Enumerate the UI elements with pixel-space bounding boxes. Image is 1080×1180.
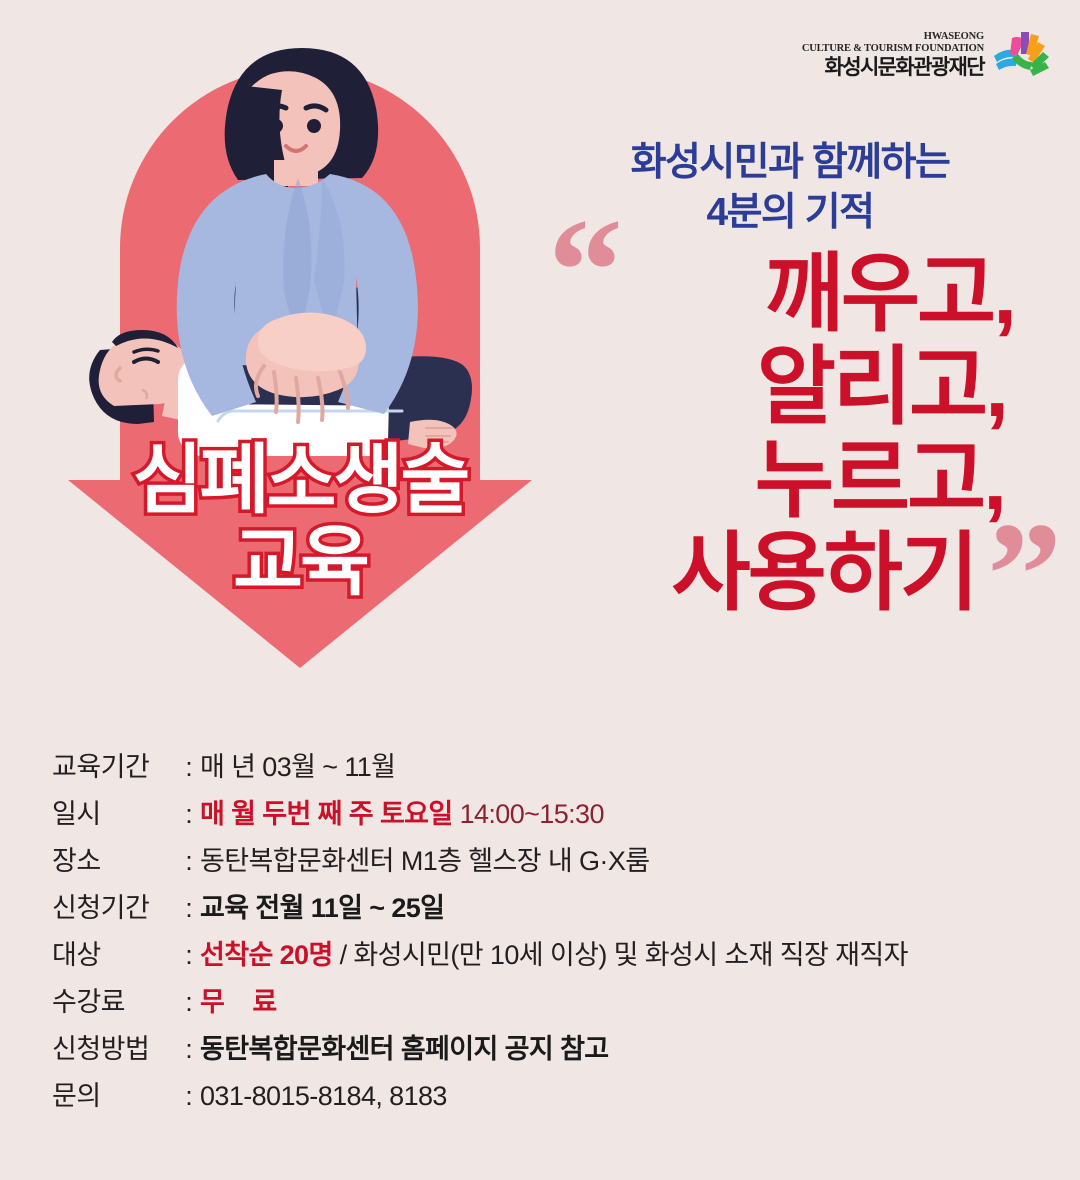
slogan-line2: 알리고, <box>540 341 1028 434</box>
slogan-line3: 누르고, <box>540 434 1028 527</box>
info-value-part: 매 년 03월 ~ 11월 <box>200 752 395 782</box>
info-row: 일시:매 월 두번 째 주 토요일 14:00~15:30 <box>52 799 1062 846</box>
info-row-label: 장소 <box>52 848 178 875</box>
info-row-value: 무 료 <box>200 989 287 1016</box>
info-value-part: / 화성시민(만 10세 이상) 및 화성시 소재 직장 재직자 <box>333 940 908 970</box>
info-row-value: 031-8015-8184, 8183 <box>200 1083 447 1110</box>
info-row-label: 대상 <box>52 942 178 969</box>
slogan-block: “ 깨우고, 알리고, 누르고, 사용하기 ” <box>540 248 1050 678</box>
info-row-label: 신청기간 <box>52 895 178 922</box>
info-value-part: 031-8015-8184, 8183 <box>200 1081 447 1111</box>
info-row-label: 신청방법 <box>52 1036 178 1063</box>
info-row-value: 매 월 두번 째 주 토요일 14:00~15:30 <box>200 801 604 828</box>
info-row-value: 동탄복합문화센터 M1층 헬스장 내 G·X룸 <box>200 848 649 875</box>
info-row-colon: : <box>178 1034 200 1065</box>
info-value-part: 매 월 두번 째 주 토요일 <box>200 799 453 829</box>
info-row-colon: : <box>178 1081 200 1112</box>
cpr-illustration <box>60 28 540 718</box>
info-row-label: 교육기간 <box>52 754 178 781</box>
info-row-label: 수강료 <box>52 989 178 1016</box>
info-list: 교육기간:매 년 03월 ~ 11월일시:매 월 두번 째 주 토요일 14:0… <box>52 752 1062 1128</box>
headline-line1: 화성시민과 함께하는 <box>540 138 1040 188</box>
info-value-part: 동탄복합문화센터 M1층 헬스장 내 G·X룸 <box>200 846 649 876</box>
logo-text: HWASEONG CULTURE & TOURISM FOUNDATION 화성… <box>802 32 984 78</box>
info-value-part: 선착순 20명 <box>200 940 333 970</box>
foundation-logo: HWASEONG CULTURE & TOURISM FOUNDATION 화성… <box>802 22 1052 78</box>
info-row: 교육기간:매 년 03월 ~ 11월 <box>52 752 1062 799</box>
slogan-lines: 깨우고, 알리고, 누르고, 사용하기 <box>540 248 1050 620</box>
info-row-value: 동탄복합문화센터 홈페이지 공지 참고 <box>200 1036 609 1063</box>
close-quote-icon: ” <box>987 500 1062 650</box>
info-row: 문의:031-8015-8184, 8183 <box>52 1081 1062 1128</box>
info-value-part: 교육 전월 11일 ~ 25일 <box>200 893 444 923</box>
slogan-line4: 사용하기 <box>540 527 1028 620</box>
info-row-value: 매 년 03월 ~ 11월 <box>200 754 395 781</box>
info-row: 대상:선착순 20명 / 화성시민(만 10세 이상) 및 화성시 소재 직장 … <box>52 940 1062 987</box>
info-row-label: 문의 <box>52 1083 178 1110</box>
info-row-colon: : <box>178 752 200 783</box>
info-row-colon: : <box>178 893 200 924</box>
logo-en-line1: HWASEONG <box>802 32 984 43</box>
info-row-colon: : <box>178 846 200 877</box>
info-row-colon: : <box>178 940 200 971</box>
info-value-part: 무 료 <box>200 987 287 1017</box>
info-row-colon: : <box>178 799 200 830</box>
info-row: 신청기간:교육 전월 11일 ~ 25일 <box>52 893 1062 940</box>
info-row-label: 일시 <box>52 801 178 828</box>
info-row: 장소:동탄복합문화센터 M1층 헬스장 내 G·X룸 <box>52 846 1062 893</box>
info-row: 신청방법:동탄복합문화센터 홈페이지 공지 참고 <box>52 1034 1062 1081</box>
slogan-line1: 깨우고, <box>540 248 1028 341</box>
info-row-colon: : <box>178 987 200 1018</box>
hwaseong-foundation-logo-icon <box>990 22 1052 78</box>
info-row-value: 교육 전월 11일 ~ 25일 <box>200 895 444 922</box>
logo-kr-name: 화성시문화관광재단 <box>802 57 984 78</box>
info-value-part: 동탄복합문화센터 홈페이지 공지 참고 <box>200 1034 609 1064</box>
logo-en-line2: CULTURE & TOURISM FOUNDATION <box>802 44 984 55</box>
info-row-value: 선착순 20명 / 화성시민(만 10세 이상) 및 화성시 소재 직장 재직자 <box>200 942 908 969</box>
info-row: 수강료:무 료 <box>52 987 1062 1034</box>
info-value-part: 14:00~15:30 <box>453 799 604 829</box>
